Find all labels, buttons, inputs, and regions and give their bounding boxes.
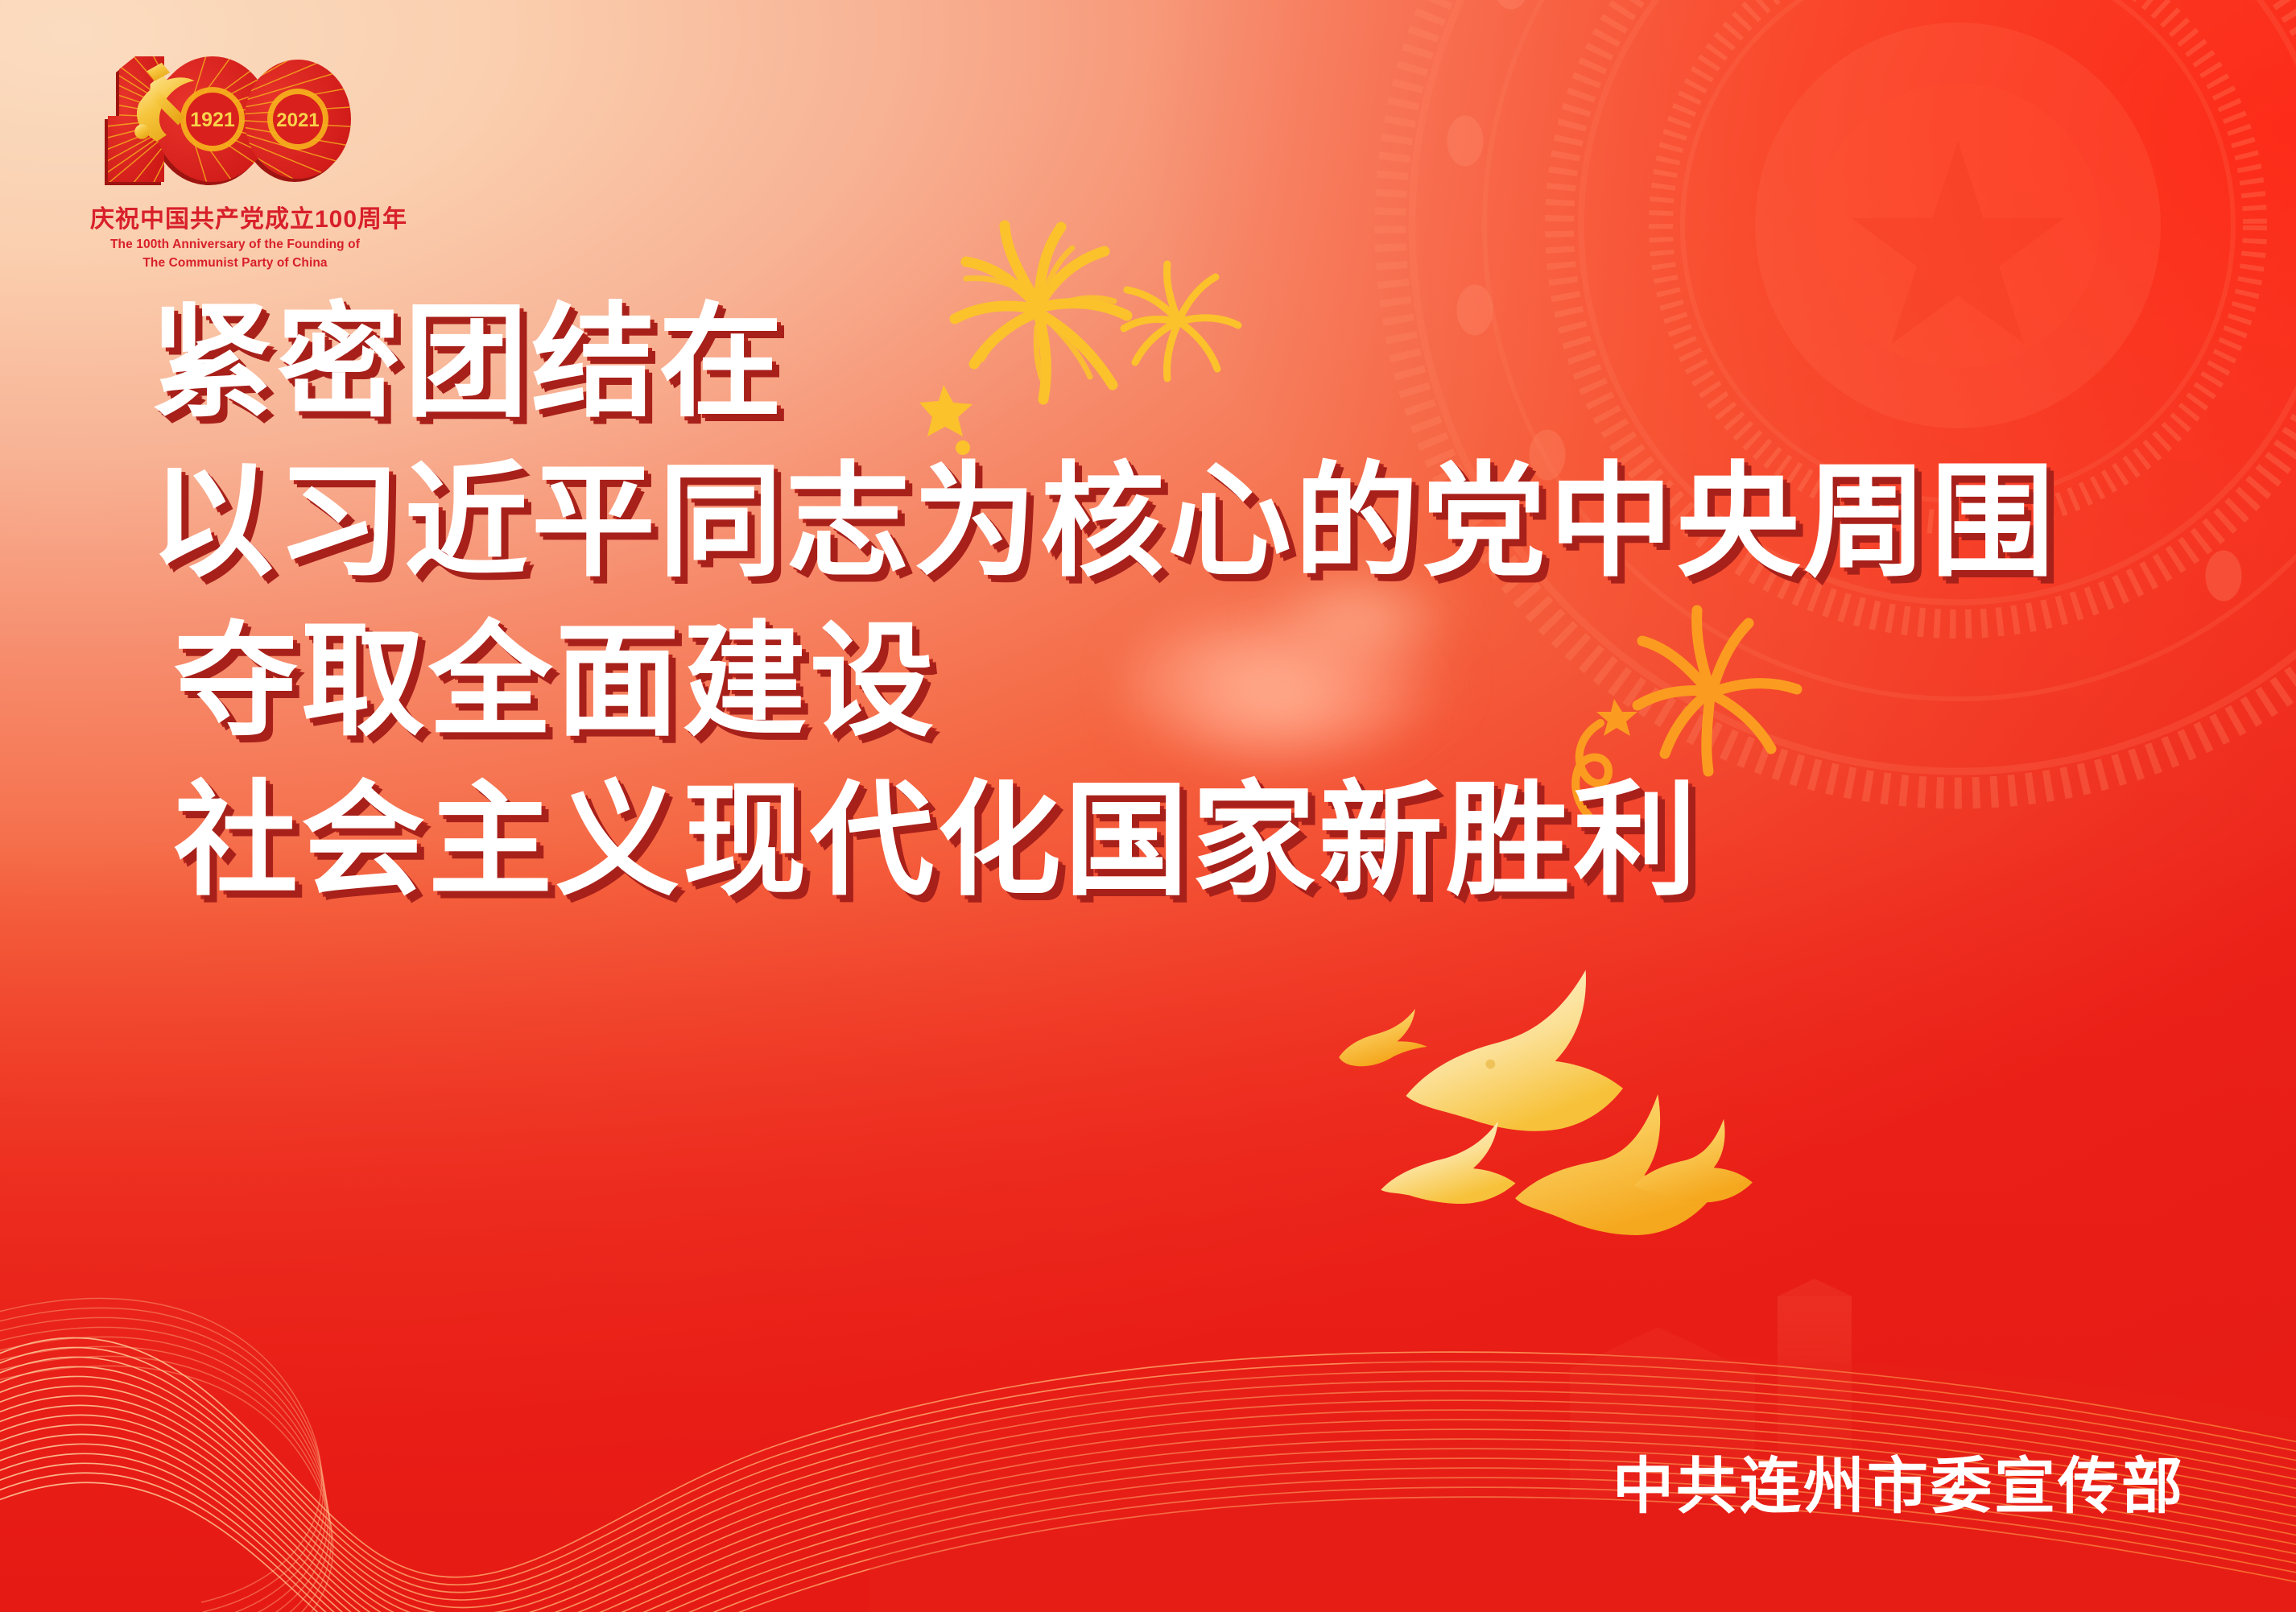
logo-year-start: 1921: [190, 109, 235, 131]
issuer-signature: 中共连州市委宣传部: [1613, 1436, 2185, 1525]
cpc-anniversary-logo: 1921 2021: [90, 39, 380, 271]
logo-caption-chinese: 庆祝中国共产党成立100周年: [90, 199, 380, 234]
headline-line-4: 社会主义现代化国家新胜利: [150, 762, 2162, 921]
headline-line-3: 夺取全面建设: [150, 602, 2162, 762]
headline-line-2: 以习近平同志为核心的党中央周围: [150, 443, 2162, 602]
logo-caption-english-line2: The Communist Party of China: [90, 255, 380, 271]
cpc-100-emblem-icon: 1921 2021: [90, 39, 356, 196]
propaganda-poster: 1921 2021: [0, 0, 2296, 1612]
logo-year-end: 2021: [276, 110, 319, 131]
logo-caption-english-line1: The 100th Anniversary of the Founding of: [90, 237, 380, 253]
headline-block: 紧密团结在 以习近平同志为核心的党中央周围 夺取全面建设 社会主义现代化国家新胜…: [150, 283, 2162, 921]
headline-line-1: 紧密团结在: [150, 283, 2162, 443]
